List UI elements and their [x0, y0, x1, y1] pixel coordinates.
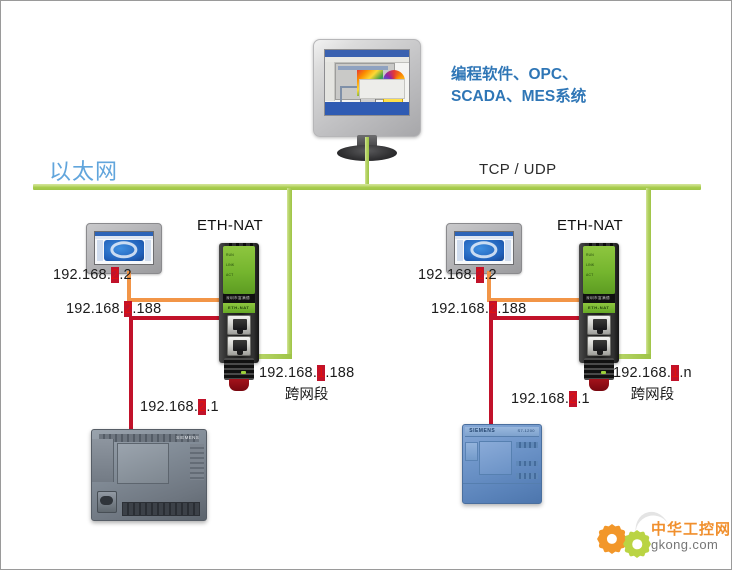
right-nat-bottom-vent	[584, 358, 614, 380]
left-nat-bottom-vent	[224, 358, 254, 380]
left-plc-bottom-terminals	[122, 502, 201, 516]
left-plc-side-panel	[92, 439, 114, 482]
host-drop-cable	[365, 137, 369, 187]
left-plc-front-cover	[117, 443, 169, 485]
left-hmi-screen	[94, 231, 154, 265]
host-caption: 编程软件、OPC、 SCADA、MES系统	[451, 64, 586, 108]
right-nat-vendor-text: 深圳市富满德	[586, 296, 610, 301]
left-nat-led-act: ACT	[226, 273, 233, 277]
ethernet-label: 以太网	[49, 154, 118, 186]
left-nat-wan-suffix: .188	[325, 365, 354, 381]
right-eth-nat-module: RUN LINK ACT 深圳市富满德 ETH-NAT	[579, 243, 619, 363]
right-plc-term-3	[516, 473, 538, 478]
right-plc-divider	[463, 483, 541, 484]
left-nat-wan-prefix: 192.168.	[259, 365, 317, 381]
right-plc-model: S7-1200	[518, 428, 535, 433]
right-nat-lan-prefix: 192.168.	[431, 301, 489, 317]
right-hmi-ip-suffix: .2	[484, 267, 497, 283]
right-hmi-col-right	[505, 240, 511, 261]
left-nat-green-panel: RUN LINK ACT	[223, 246, 255, 294]
left-nat-title: ETH-NAT	[197, 217, 263, 234]
right-nat-model-strip: ETH-NAT	[583, 303, 615, 313]
right-nat-brandband: 深圳市富满德	[583, 294, 615, 303]
right-nat-wan-drop-v	[646, 188, 651, 358]
left-hmi-graphic	[104, 240, 143, 261]
left-nat-port-wan	[227, 336, 251, 356]
left-hmi-col-left	[97, 240, 103, 261]
host-caption-line1: 编程软件、OPC、	[451, 64, 586, 86]
watermark-gear-green-icon	[623, 530, 651, 558]
left-plc-ip-prefix: 192.168.	[140, 399, 198, 415]
right-plc-s7-1200: SIEMENS S7-1200	[462, 424, 542, 504]
watermark-gear-orange-icon	[597, 524, 627, 554]
left-plc-ip-label: 192.168.2.1	[140, 399, 219, 415]
right-nat-title: ETH-NAT	[557, 217, 623, 234]
left-nat-wan-ip-label: 192.168.1.188	[259, 365, 354, 381]
left-nat-lan-ip-label: 192.168.2.188	[66, 301, 161, 317]
right-hmi-menubar	[455, 236, 513, 239]
left-nat-din-foot	[229, 379, 249, 391]
screen-statusbar	[325, 102, 409, 115]
left-nat-model-text: ETH-NAT	[228, 305, 249, 310]
right-nat-wan-prefix: 192.168.	[613, 365, 671, 381]
left-hmi-ip-label: 192.168.2.2	[53, 267, 132, 283]
host-caption-line2: SCADA、MES系统	[451, 86, 586, 108]
watermark-en-text: gkong.com	[651, 537, 718, 552]
right-plc-term-1	[516, 442, 538, 447]
left-nat-lan-prefix: 192.168.	[66, 301, 124, 317]
left-nat-vendor-text: 深圳市富满德	[226, 296, 250, 301]
left-nat-wan-block: 192.168.1.188 跨网段	[259, 365, 354, 404]
right-hmi-graphic	[464, 240, 503, 261]
right-plc-ip-suffix: .1	[577, 391, 590, 407]
right-hmi-ip-label: 192.168.2.2	[418, 267, 497, 283]
left-nat-wan-led	[241, 371, 246, 374]
left-plc-right-vents	[190, 444, 204, 480]
right-plc-brand: SIEMENS	[469, 428, 495, 434]
left-plc-brand: SIEMENS	[176, 435, 199, 440]
right-nat-wan-ip-label: 192.168.1.n	[613, 365, 692, 381]
right-nat-din-foot	[589, 379, 609, 391]
right-nat-led-act: ACT	[586, 273, 593, 277]
left-plc-s7-200: SIEMENS	[91, 429, 207, 521]
right-hmi-ring	[470, 241, 497, 258]
left-nat-brandband: 深圳市富满德	[223, 294, 255, 303]
right-nat-port-lan	[587, 315, 611, 335]
right-nat-port-wan	[587, 336, 611, 356]
right-nat-led-link: LINK	[586, 263, 594, 267]
left-nat-lan-suffix: .188	[132, 301, 161, 317]
right-nat-led-run: RUN	[586, 253, 594, 257]
left-hmi-ring	[110, 241, 137, 258]
watermark-cn-text: 中华工控网	[651, 518, 731, 539]
right-plc-cable-v	[489, 316, 493, 426]
right-hmi-ip-prefix: 192.168.	[418, 267, 476, 283]
left-nat-wan-note: 跨网段	[259, 383, 354, 404]
left-eth-nat-module: RUN LINK ACT 深圳市富满德 ETH-NAT	[219, 243, 259, 363]
left-nat-led-link: LINK	[226, 263, 234, 267]
right-hmi-col-left	[457, 240, 463, 261]
left-nat-model-strip: ETH-NAT	[223, 303, 255, 313]
left-plc-dsub-port	[97, 491, 117, 513]
right-nat-wan-block: 192.168.1.n 跨网段	[613, 365, 692, 404]
left-nat-port-lan	[227, 315, 251, 335]
right-plc-term-2	[516, 461, 538, 466]
watermark: 中华工控网 gkong.com	[595, 512, 731, 562]
right-nat-wan-suffix: .n	[679, 365, 692, 381]
right-hmi-screen	[454, 231, 514, 265]
right-nat-lan-ip-label: 192.168.2.188	[431, 301, 526, 317]
protocol-label: TCP / UDP	[479, 161, 557, 178]
right-nat-wan-led	[601, 371, 606, 374]
monitor-bezel	[313, 39, 421, 137]
left-hmi-col-right	[145, 240, 151, 261]
ethernet-backbone	[33, 184, 701, 190]
right-nat-green-panel: RUN LINK ACT	[583, 246, 615, 294]
left-hmi-ip-suffix: .2	[119, 267, 132, 283]
left-nat-wan-drop-v	[287, 188, 292, 358]
right-plc-ip-label: 192.168.2.1	[511, 391, 590, 407]
right-plc-ip-prefix: 192.168.	[511, 391, 569, 407]
monitor-screen	[324, 49, 410, 116]
left-nat-led-run: RUN	[226, 253, 234, 257]
left-plc-cable-v	[129, 316, 133, 431]
right-nat-wan-note: 跨网段	[613, 383, 692, 404]
screen-swatch-rows	[359, 79, 405, 99]
right-plc-front-cover	[479, 441, 512, 476]
left-hmi-menubar	[95, 236, 153, 239]
left-hmi-ip-prefix: 192.168.	[53, 267, 111, 283]
screen-toolbar-left	[325, 62, 335, 101]
left-plc-ip-suffix: .1	[206, 399, 219, 415]
right-nat-model-text: ETH-NAT	[588, 305, 609, 310]
right-plc-left-block	[465, 442, 478, 461]
diagram-canvas: 编程软件、OPC、 SCADA、MES系统 以太网 TCP / UDP ETH-…	[0, 0, 732, 570]
screen-titlebar	[325, 50, 409, 57]
right-nat-lan-suffix: .188	[497, 301, 526, 317]
